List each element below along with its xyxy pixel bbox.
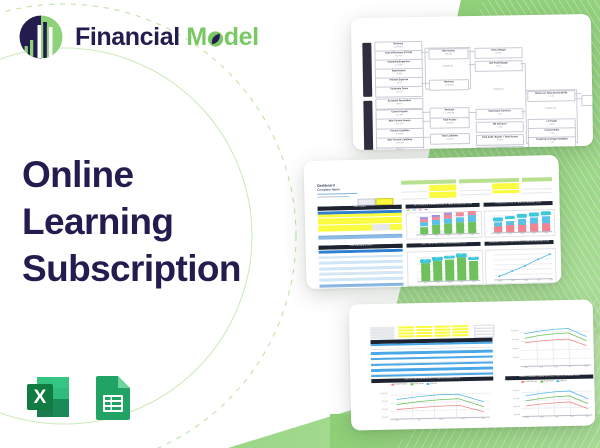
chart-profitability-title: Profitability (€'000) | 5 Years to Decem… bbox=[484, 201, 553, 207]
cell bbox=[522, 189, 552, 194]
connector-line bbox=[422, 137, 430, 138]
data-label-bubble bbox=[493, 217, 503, 221]
cell-yellow bbox=[429, 194, 456, 198]
chart-legend bbox=[407, 209, 428, 211]
brand-logo: Financial Mdel bbox=[18, 14, 259, 60]
axis-label-x: 2025 bbox=[432, 234, 440, 236]
legend-label: Total Revenue bbox=[395, 383, 407, 385]
circle-bar-chart-logo-icon bbox=[18, 14, 64, 60]
chart-top-revenue-streams: 2024 2025 2026 2027 2028 bbox=[406, 211, 483, 240]
logo-word-model-del: del bbox=[224, 23, 259, 51]
axis-label-y: €50,000 bbox=[505, 348, 519, 350]
axis-label-x: 2027 bbox=[534, 279, 543, 281]
chart-ebitda-net-income: €100,000 €75,000 €50,000 €25,000 2024 20… bbox=[371, 387, 494, 430]
chart-profitability: 2024 2025 2026 2027 2028 bbox=[484, 209, 556, 238]
file-format-icons: X bbox=[22, 371, 138, 423]
axis-label-x: 2028 bbox=[581, 415, 593, 417]
node-total-assets: Total Assets900,000 bbox=[430, 117, 470, 129]
logo-leaf-o-icon bbox=[207, 25, 224, 50]
node-roa: Return on Total Assets (ROA)17.3% bbox=[527, 90, 575, 102]
axis-label-x: 2024 bbox=[494, 233, 502, 235]
headline-line-1: Online bbox=[22, 152, 297, 199]
axis-label-y: €25,000 bbox=[372, 417, 388, 419]
connector-line bbox=[575, 93, 581, 94]
connector-line bbox=[470, 112, 476, 113]
axis-label-x: 2026 bbox=[444, 234, 452, 236]
logo-word-financial: Financial bbox=[75, 23, 180, 51]
data-label-bubble bbox=[517, 214, 527, 218]
axis-label-y: €100,000 bbox=[506, 390, 520, 392]
cell bbox=[401, 195, 428, 200]
chart-top-revenue-streams-title: Top 5 Revenue Streams (€'000) | 5 Years … bbox=[406, 203, 480, 209]
axis-label-x: 2027 bbox=[565, 366, 577, 368]
brand-logo-text: Financial Mdel bbox=[75, 25, 259, 50]
chart-cash-flow-title: Cash Flow (€'000) | 5 Years to December … bbox=[407, 242, 481, 248]
axis-label-x: 2026 bbox=[434, 419, 448, 421]
data-label-bubble: 63.2 bbox=[444, 255, 455, 259]
axis-label-x: 2028 bbox=[476, 418, 490, 420]
connector-line bbox=[422, 112, 430, 113]
axis-label-y: €75,000 bbox=[504, 339, 518, 341]
dashboard-card[interactable]: Dashboard Company Name bbox=[303, 155, 561, 289]
axis-label-x: 2025 bbox=[412, 419, 426, 421]
data-label-bubble bbox=[541, 211, 551, 215]
dashboard-subheader-line-2 bbox=[317, 196, 349, 198]
node-roe: Return on Equity (ROE)32.0% bbox=[581, 94, 593, 106]
node-total-asset-turnover: Total Asset Turnover1.38 bbox=[475, 108, 523, 120]
axis-label-y: €25,000 bbox=[506, 414, 520, 416]
axis-label-x: 2024 bbox=[420, 235, 428, 237]
bar bbox=[457, 257, 467, 280]
financial-statements-card[interactable]: €100,000 €75,000 €50,000 €25,000 2024 20… bbox=[349, 299, 596, 430]
axis-label-x: 2026 bbox=[445, 281, 454, 283]
table-row-highlight bbox=[372, 224, 390, 231]
node-equity: Equity486,800 bbox=[376, 147, 424, 150]
data-label-bubble: 58.4 bbox=[432, 257, 443, 261]
legend-label: Total Revenue bbox=[525, 381, 537, 383]
chart-revenue-margins-expenses: €100,000 €75,000 €50,000 €25,000 2024 20… bbox=[504, 322, 593, 372]
cell bbox=[459, 190, 491, 195]
node-financial-leverage-multiplier: Financial Leverage multiplier1.85 bbox=[528, 136, 576, 148]
bar bbox=[445, 259, 455, 281]
bar bbox=[433, 261, 442, 281]
chart-cash-flow: 52.1 58.4 63.2 68.0 60.3 2024 2025 2026 … bbox=[407, 250, 484, 287]
axis-label-x: 2026 bbox=[518, 232, 526, 234]
headline-line-3: Subscription bbox=[22, 246, 297, 293]
dashboard-subtitle: Company Name bbox=[317, 188, 340, 192]
axis-label-x: 2027 bbox=[566, 416, 578, 418]
table-total-row bbox=[319, 283, 403, 288]
band-balance-sheet bbox=[363, 101, 373, 150]
bar bbox=[421, 263, 430, 281]
node-total-liabilities: Total Liabilities413,200 bbox=[430, 133, 470, 145]
connector-line bbox=[575, 98, 581, 99]
node-ar-turnover: AR Turnover12.65 bbox=[476, 121, 524, 133]
legend-label: EBITDA bbox=[560, 380, 567, 382]
node-revenue-mid-1: Revenue1,245,000 bbox=[429, 79, 469, 91]
legend-label: Gross Profit bbox=[414, 383, 424, 385]
data-label-bubble: 52.1 bbox=[420, 259, 431, 263]
node-accounts-receivable: Accounts Receivable98,400 bbox=[375, 98, 423, 110]
connector-line bbox=[468, 51, 474, 52]
node-net-income: Net Income156,020 bbox=[428, 48, 468, 60]
dashboard-spreadsheet: Dashboard Company Name bbox=[311, 162, 555, 282]
logo-word-model-m: M bbox=[186, 23, 206, 51]
node-corporate-taxes: Corporate Taxes-63,210 bbox=[375, 86, 423, 98]
excel-icon[interactable]: X bbox=[22, 371, 74, 423]
axis-label-x: 2024 bbox=[421, 282, 430, 284]
axis-label-x: 2027 bbox=[457, 281, 466, 283]
financial-statements-spreadsheet: €100,000 €75,000 €50,000 €25,000 2024 20… bbox=[356, 307, 588, 424]
axis-label-y: €100,000 bbox=[504, 330, 518, 332]
dupont-flowchart: Revenue1,245,000 Cost of Revenue (COGS)-… bbox=[358, 21, 586, 143]
axis-label-x: 2024 bbox=[390, 419, 404, 421]
connector-line bbox=[469, 64, 475, 65]
table-total-row bbox=[318, 234, 402, 239]
axis-label-x: 2028 bbox=[542, 232, 550, 234]
data-label-bubble bbox=[529, 213, 539, 217]
axis-label-x: 2026 bbox=[550, 366, 562, 368]
node-total-debt-equity: Total Debt / Equity + Total Assets45.9% bbox=[476, 134, 524, 146]
axis-label-x: 2026 bbox=[521, 279, 530, 281]
cell-yellow bbox=[492, 189, 519, 193]
node-gross-margin: Gross Margin58.8% bbox=[474, 47, 522, 59]
chart-investment-portfolio: 2024 2025 2026 2027 2028 bbox=[485, 248, 557, 285]
axis-label-y: €75,000 bbox=[372, 401, 388, 403]
axis-label-x: 2027 bbox=[456, 418, 470, 420]
cell-yellow bbox=[452, 334, 468, 337]
chart-legend: Total Revenue Gross Profit EBITDA bbox=[391, 383, 437, 386]
axis-label-x: 2028 bbox=[469, 280, 478, 282]
band-income-statement bbox=[362, 43, 372, 97]
data-label-bubble bbox=[505, 216, 515, 220]
cell-yellow bbox=[398, 335, 414, 338]
svg-text:X: X bbox=[34, 387, 47, 408]
axis-label-y: €75,000 bbox=[506, 398, 520, 400]
axis-label-x: 2027 bbox=[456, 234, 464, 236]
axis-label-x: 2024 bbox=[495, 280, 504, 282]
connector-line bbox=[525, 63, 526, 94]
chart-assets-liabilities-equity: €100,000 €75,000 €50,000 €25,000 2024 20… bbox=[505, 384, 594, 426]
google-sheets-icon[interactable] bbox=[86, 371, 138, 423]
dupont-flowchart-card[interactable]: Revenue1,245,000 Cost of Revenue (COGS)-… bbox=[351, 14, 593, 150]
connector-line bbox=[422, 121, 430, 122]
page-title: Online Learning Subscription bbox=[22, 152, 297, 293]
slide-canvas: Financial Mdel Online Learning Subscript… bbox=[0, 0, 600, 448]
axis-label-x: 2027 bbox=[530, 232, 538, 234]
axis-label-x: 2024 bbox=[521, 417, 533, 419]
axis-label-y: €100,000 bbox=[372, 393, 388, 395]
axis-label-x: 2026 bbox=[551, 416, 563, 418]
headline-line-2: Learning bbox=[22, 199, 297, 246]
bar bbox=[469, 260, 478, 280]
axis-label-x: 2028 bbox=[468, 233, 476, 235]
axis-label-x: 2025 bbox=[433, 281, 442, 283]
axis-label-x: 2025 bbox=[508, 279, 517, 281]
cell-yellow bbox=[434, 334, 450, 337]
legend-label: Gross Profit bbox=[544, 380, 554, 382]
axis-label-y: €25,000 bbox=[505, 357, 519, 359]
node-net-profit-margin: Net Profit Margin12.5% bbox=[475, 60, 523, 72]
data-label-bubble: 68.0 bbox=[456, 253, 467, 257]
axis-label-x: 2028 bbox=[546, 279, 555, 281]
divider-label-2: multiplied by bbox=[475, 88, 521, 91]
axis-label-x: 2024 bbox=[520, 367, 532, 369]
cell-yellow bbox=[416, 334, 432, 337]
legend-label: EBITDA bbox=[430, 383, 437, 385]
axis-label-y: €50,000 bbox=[372, 409, 388, 411]
axis-label-x: 2028 bbox=[580, 365, 592, 367]
axis-label-x: 2025 bbox=[506, 233, 514, 235]
chart-legend: Total Revenue Gross Profit EBITDA bbox=[521, 380, 567, 383]
chart-investment-portfolio-title: Investment Portfolio Cash (€'000) | 5 Ye… bbox=[484, 240, 553, 246]
axis-label-x: 2025 bbox=[535, 366, 547, 368]
connector-line bbox=[522, 111, 526, 112]
axis-label-x: 2025 bbox=[536, 416, 548, 418]
data-label-bubble: 60.3 bbox=[468, 256, 479, 260]
axis-label-y: €50,000 bbox=[506, 406, 520, 408]
